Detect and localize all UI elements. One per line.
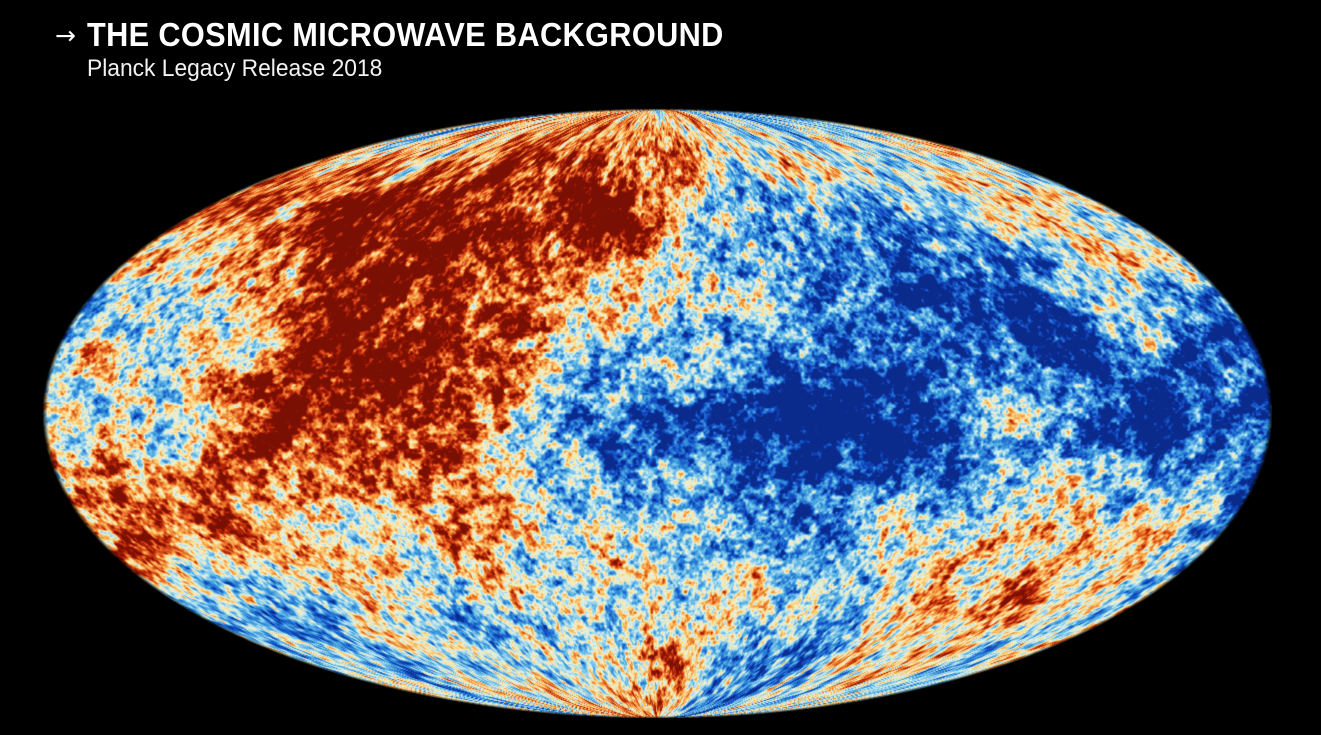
slide-header: → THE COSMIC MICROWAVE BACKGROUND Planck… <box>55 18 772 83</box>
slide-root: → THE COSMIC MICROWAVE BACKGROUND Planck… <box>0 0 1321 735</box>
title-row: → THE COSMIC MICROWAVE BACKGROUND <box>55 18 772 52</box>
cmb-skymap <box>42 108 1272 718</box>
page-title: THE COSMIC MICROWAVE BACKGROUND <box>87 18 724 52</box>
arrow-right-icon: → <box>55 23 76 48</box>
cmb-skymap-canvas <box>42 108 1272 718</box>
page-subtitle: Planck Legacy Release 2018 <box>87 56 737 83</box>
